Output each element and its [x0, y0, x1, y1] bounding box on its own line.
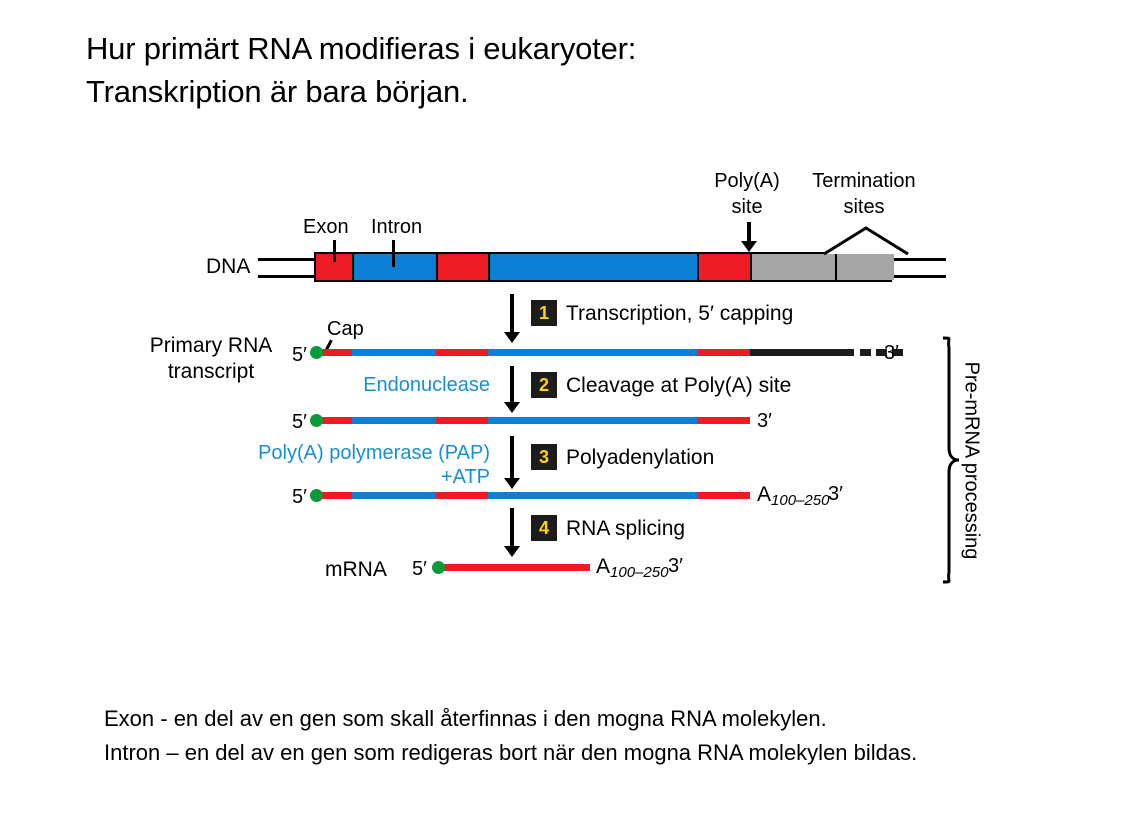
rna4-segment-exons [437, 564, 590, 571]
exon-leader-line [333, 240, 336, 262]
exon-label: Exon [303, 216, 349, 239]
step-1-label: Transcription, 5′ capping [566, 302, 793, 326]
dna-segment-downstream-2 [837, 254, 894, 280]
mature-mrna-line [437, 564, 590, 571]
mrna-row-label: mRNA [325, 558, 387, 582]
rna3-segment-intron-1 [352, 492, 436, 499]
rna2-segment-exon-2 [436, 417, 488, 424]
primary-rna-label-line1: Primary RNA [136, 334, 286, 358]
rna1-segment-intron-2 [488, 349, 697, 356]
step-1-arrow [503, 294, 521, 346]
caption-line-intron: Intron – en del av en gen som redigeras … [104, 736, 1064, 770]
step-3-arrow [503, 436, 521, 492]
title-line-1: Hur primärt RNA modifieras i eukaryoter: [86, 28, 986, 71]
intron-leader-line [392, 240, 395, 267]
caption-line-exon: Exon - en del av en gen som skall återfi… [104, 702, 1064, 736]
cap-label: Cap [327, 318, 364, 341]
intron-label: Intron [371, 216, 422, 239]
termination-sites-tent-icon [820, 224, 912, 256]
rna3-segment-exon-3 [697, 492, 750, 499]
rna2-three-prime: 3′ [757, 410, 772, 433]
rna1-segment-exon-3 [697, 349, 750, 356]
polya-site-arrow [740, 222, 758, 252]
step-2-number-box: 2 [531, 372, 557, 398]
dna-right-strand-bottom [888, 275, 946, 278]
rna1-cap-dot [310, 346, 323, 359]
rna3-segment-intron-2 [488, 492, 697, 499]
dna-segment-intron-2 [490, 254, 699, 280]
rna4-cap-dot [432, 561, 445, 574]
slide-canvas: Hur primärt RNA modifieras i eukaryoter:… [0, 0, 1140, 824]
step-2-arrow [503, 366, 521, 416]
rna1-three-prime: 3′ [884, 342, 899, 365]
primary-rna-five-prime: 5′ [292, 344, 307, 367]
dna-left-strand-bottom [258, 275, 316, 278]
rna2-segment-intron-2 [488, 417, 697, 424]
termination-sites-label-line2: sites [768, 196, 960, 219]
rna2-segment-intron-1 [352, 417, 436, 424]
step-4-arrow [503, 508, 521, 560]
rna3-polya-tail: A100–250 [757, 483, 829, 509]
pre-mrna-processing-label-wrap: Pre-mRNA processing [958, 336, 984, 584]
rna3-polya-subscript: 100–250 [771, 492, 829, 509]
step-1-number-box: 1 [531, 300, 557, 326]
dna-left-strand-top [258, 258, 316, 261]
pre-mrna-processing-label: Pre-mRNA processing [960, 361, 983, 559]
polyadenylated-rna-line [314, 492, 750, 499]
dna-segment-downstream-1 [752, 254, 837, 280]
page-title: Hur primärt RNA modifieras i eukaryoter:… [86, 28, 986, 114]
rna4-polya-tail: A100–250 [596, 555, 668, 581]
endonuclease-label: Endonuclease [290, 374, 490, 397]
rna1-dash-1 [860, 349, 871, 356]
primary-rna-label-line2: transcript [136, 360, 286, 384]
dna-segment-exon-3 [699, 254, 752, 280]
step-4-number-box: 4 [531, 515, 557, 541]
rna3-polya-letter: A [757, 483, 771, 506]
step-3-label: Polyadenylation [566, 446, 714, 470]
dna-right-strand-top [888, 258, 946, 261]
rna4-three-prime: 3′ [668, 555, 683, 578]
dna-segment-intron-1 [354, 254, 438, 280]
pap-enzyme-label-line2: +ATP [240, 466, 490, 489]
rna3-cap-dot [310, 489, 323, 502]
dna-row-label: DNA [206, 255, 250, 279]
rna3-segment-exon-2 [436, 492, 488, 499]
step-4-label: RNA splicing [566, 517, 685, 541]
cleaved-rna-line [314, 417, 750, 424]
dna-segment-exon-2 [438, 254, 490, 280]
caption-block: Exon - en del av en gen som skall återfi… [104, 702, 1064, 770]
rna2-segment-exon-3 [697, 417, 750, 424]
rna3-five-prime: 5′ [292, 486, 307, 509]
rna1-segment-intron-1 [352, 349, 436, 356]
pap-enzyme-label-line1: Poly(A) polymerase (PAP) [240, 442, 490, 465]
rna2-five-prime: 5′ [292, 411, 307, 434]
rna4-polya-letter: A [596, 555, 610, 578]
title-line-2: Transkription är bara början. [86, 71, 986, 114]
primary-rna-transcript-line [314, 349, 874, 356]
rna2-cap-dot [310, 414, 323, 427]
step-2-label: Cleavage at Poly(A) site [566, 374, 791, 398]
termination-sites-label-line1: Termination [768, 170, 960, 193]
rna3-three-prime: 3′ [828, 483, 843, 506]
rna4-polya-subscript: 100–250 [610, 564, 668, 581]
dna-bar [314, 252, 892, 282]
rna4-five-prime: 5′ [412, 558, 427, 581]
rna1-segment-exon-2 [436, 349, 488, 356]
rna1-segment-downstream [750, 349, 854, 356]
step-3-number-box: 3 [531, 444, 557, 470]
